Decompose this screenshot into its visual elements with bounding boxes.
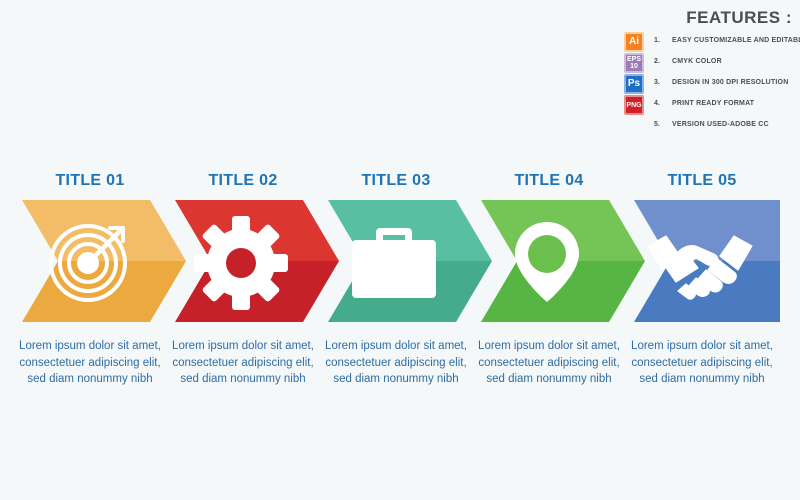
- chevron-shape-4: [469, 200, 645, 322]
- panel-title-4: TITLE 04: [469, 172, 629, 190]
- panel-body-1: Lorem ipsum dolor sit amet, consectetuer…: [14, 338, 166, 388]
- step-panel-2[interactable]: TITLE 02: [163, 0, 323, 500]
- step-panel-5[interactable]: TITLE 05 Lorem ipsum dol: [622, 0, 782, 500]
- panel-body-2: Lorem ipsum dolor sit amet, consectetuer…: [167, 338, 319, 388]
- infographic-canvas: FEATURES : Ai 1. EASY CUSTOMIZABLE AND E…: [0, 0, 800, 500]
- step-panel-1[interactable]: TITLE 01 Lorem ipsum dolor sit amet, con…: [10, 0, 170, 500]
- panel-body-3: Lorem ipsum dolor sit amet, consectetuer…: [320, 338, 472, 388]
- panel-title-1: TITLE 01: [10, 172, 170, 190]
- chevron-shape-3: [316, 200, 492, 322]
- step-panel-3[interactable]: TITLE 03 Lorem ipsum dolor sit amet, con…: [316, 0, 476, 500]
- chevron-shape-2: [163, 200, 339, 322]
- panel-title-2: TITLE 02: [163, 172, 323, 190]
- panel-title-3: TITLE 03: [316, 172, 476, 190]
- step-panel-4[interactable]: TITLE 04 Lorem ipsum dolor sit amet, con…: [469, 0, 629, 500]
- chevron-shape-5: [622, 200, 798, 322]
- chevron-shape-1: [10, 200, 186, 322]
- panel-title-5: TITLE 05: [622, 172, 782, 190]
- panel-body-5: Lorem ipsum dolor sit amet, consectetuer…: [626, 338, 778, 388]
- panel-body-4: Lorem ipsum dolor sit amet, consectetuer…: [473, 338, 625, 388]
